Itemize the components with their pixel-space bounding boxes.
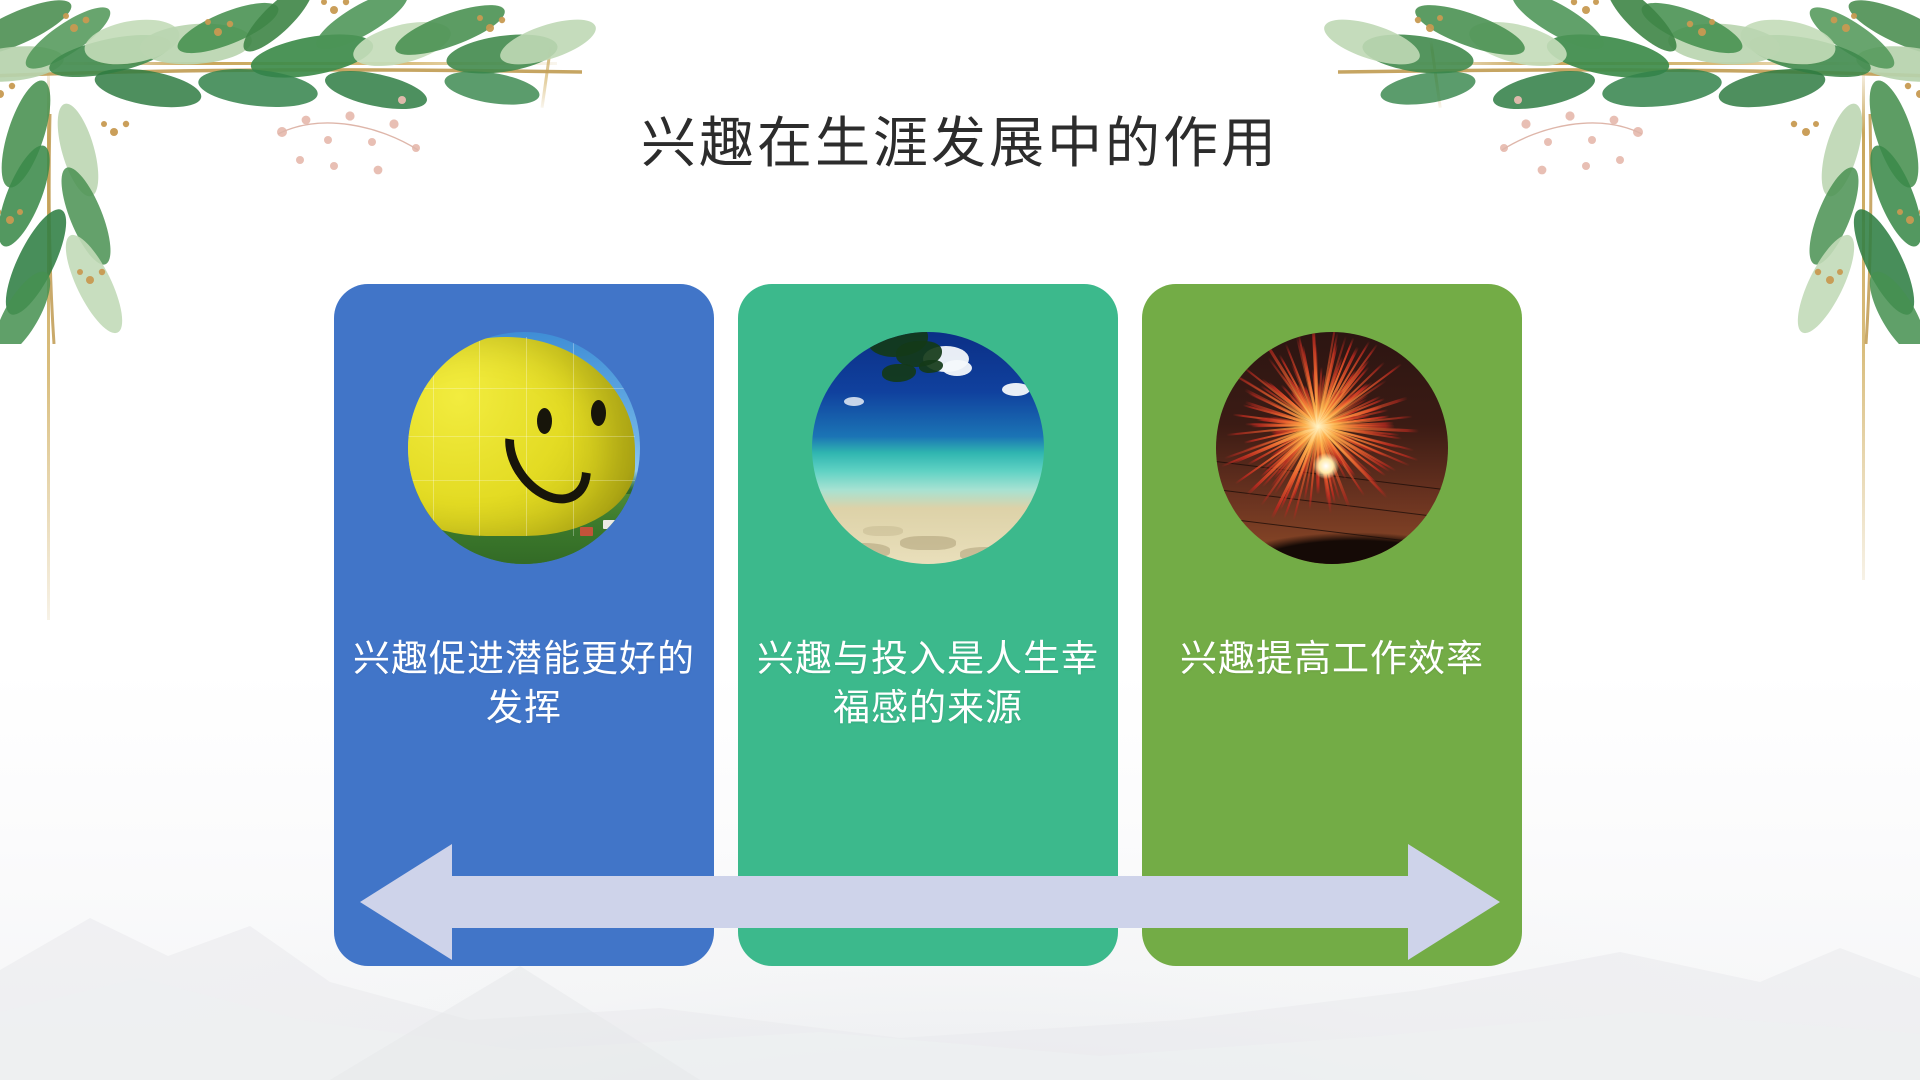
card-label: 兴趣促进潜能更好的发挥 [352, 636, 696, 734]
slide-canvas: 兴趣在生涯发展中的作用 [0, 0, 1920, 1080]
page-title: 兴趣在生涯发展中的作用 [0, 98, 1920, 178]
double-headed-arrow [360, 838, 1500, 966]
hot-air-balloon-smiley-photo [408, 332, 640, 564]
card-label: 兴趣与投入是人生幸福感的来源 [756, 636, 1100, 734]
card-label: 兴趣提高工作效率 [1160, 636, 1504, 685]
tropical-beach-photo [812, 332, 1044, 564]
fireworks-photo [1216, 332, 1448, 564]
